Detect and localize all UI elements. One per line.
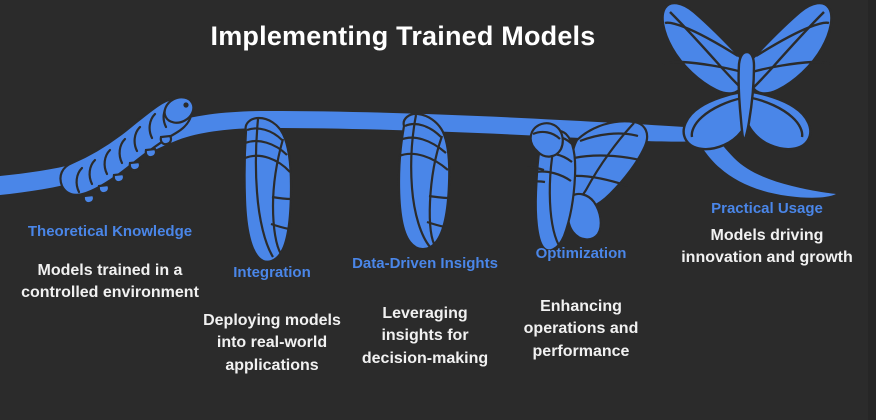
chrysalis-icon [245,118,291,262]
stage-description: Models driving innovation and growth [668,225,866,270]
chrysalis-icon [399,114,449,249]
page-title: Implementing Trained Models [0,21,806,52]
stage-optimization: Optimization Enhancing operations and pe… [498,243,664,364]
stage-label: Optimization [498,243,664,265]
stage-label: Practical Usage [668,198,866,220]
caterpillar-icon [60,92,197,203]
stage-label: Integration [196,262,348,284]
stage-description: Models trained in a controlled environme… [8,260,212,305]
stage-description: Enhancing operations and performance [498,296,664,364]
stage-description: Leveraging insights for decision-making [352,303,498,371]
stage-integration: Integration Deploying models into real-w… [196,262,348,378]
slide-canvas: Implementing Trained Models Theoretical … [0,0,876,420]
stage-data-driven-insights: Data-Driven Insights Leveraging insights… [352,253,498,371]
stage-label: Data-Driven Insights [352,253,498,275]
stage-description: Deploying models into real-world applica… [196,310,348,378]
emerging-moth-icon [527,121,647,250]
stage-theoretical-knowledge: Theoretical Knowledge Models trained in … [8,221,212,305]
stage-practical-usage: Practical Usage Models driving innovatio… [668,198,866,270]
stage-label: Theoretical Knowledge [8,221,212,243]
right-edge-strip [868,0,876,420]
